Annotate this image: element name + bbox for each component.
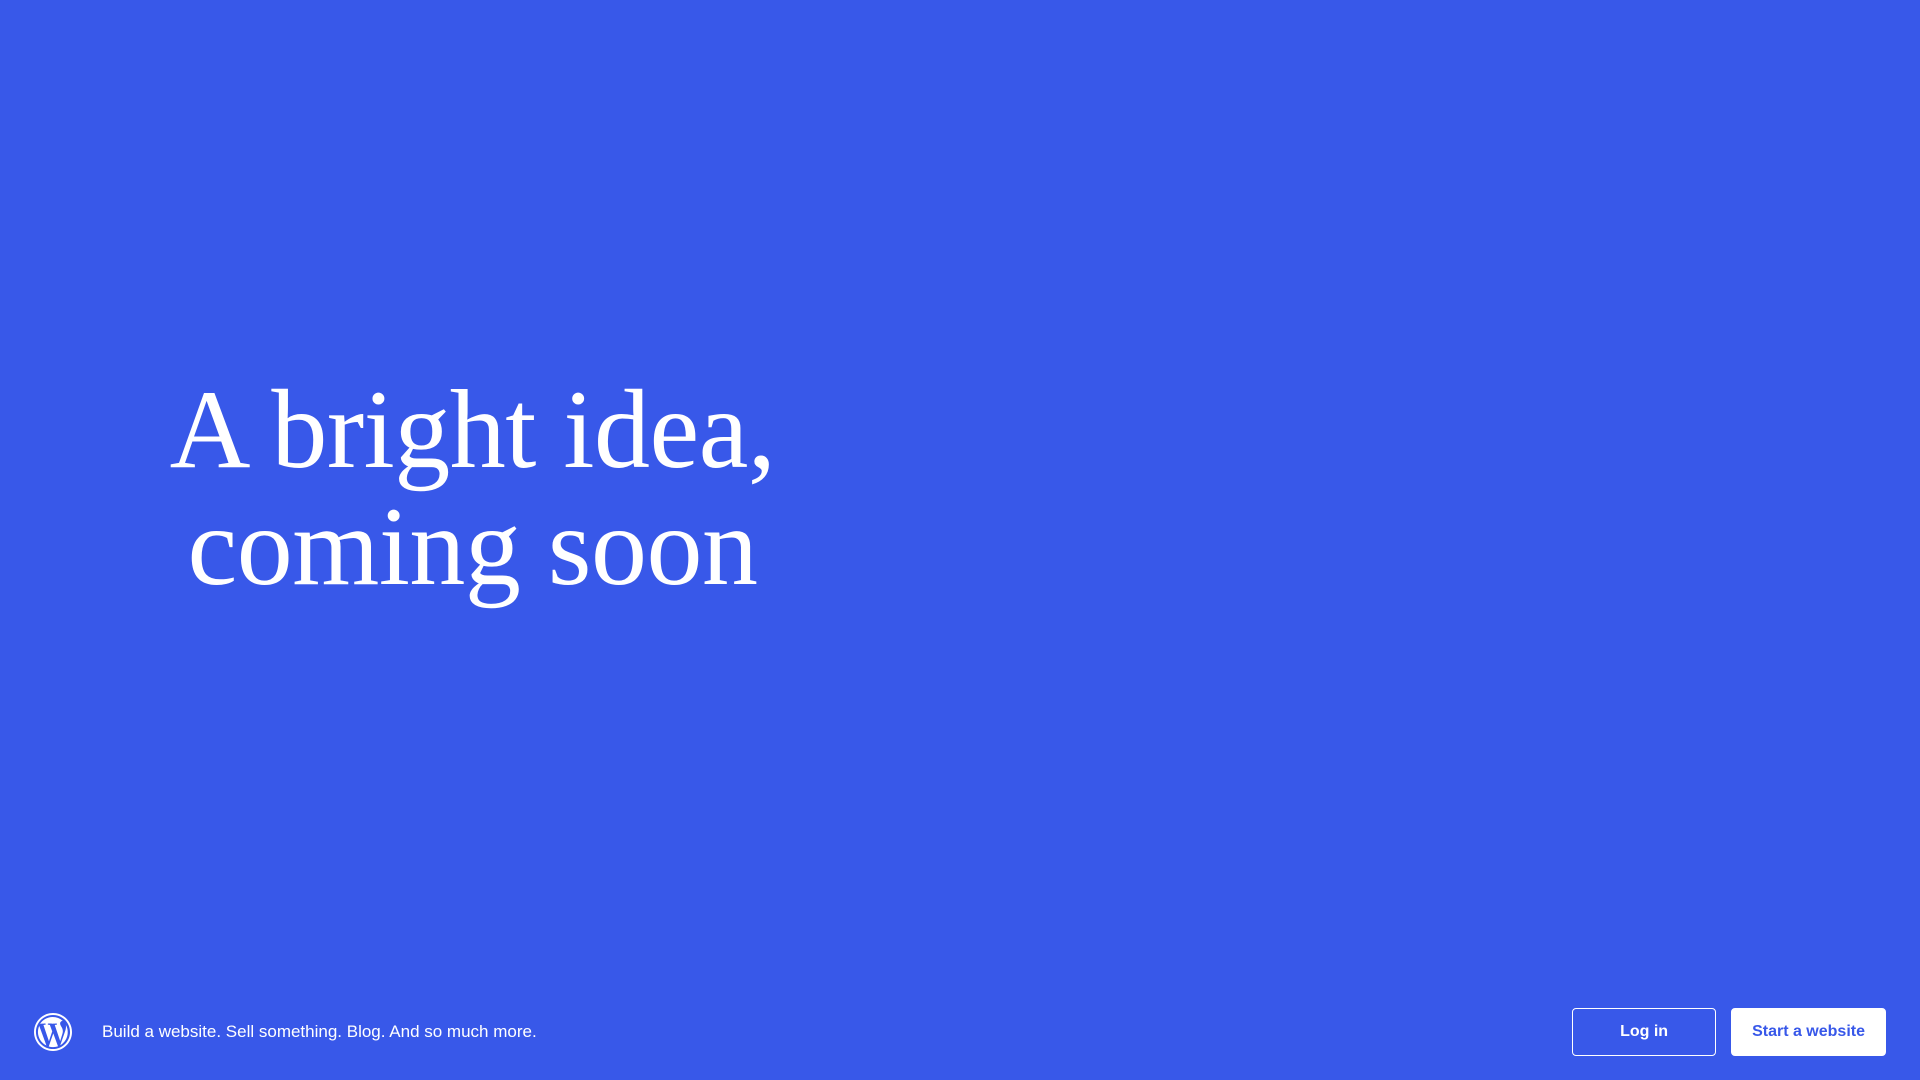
footer-bar: Build a website. Sell something. Blog. A… [0,984,1920,1080]
footer-branding: Build a website. Sell something. Blog. A… [34,1013,537,1051]
hero-section: A bright idea, coming soon [0,0,1920,984]
login-button[interactable]: Log in [1572,1008,1716,1056]
footer-actions: Log in Start a website [1572,1008,1886,1056]
coming-soon-page: A bright idea, coming soon Build a websi… [0,0,1920,1080]
footer-tagline: Build a website. Sell something. Blog. A… [102,1021,537,1043]
page-title: A bright idea, coming soon [150,372,795,606]
start-a-website-button[interactable]: Start a website [1731,1008,1886,1056]
wordpress-logo-icon [34,1013,72,1051]
